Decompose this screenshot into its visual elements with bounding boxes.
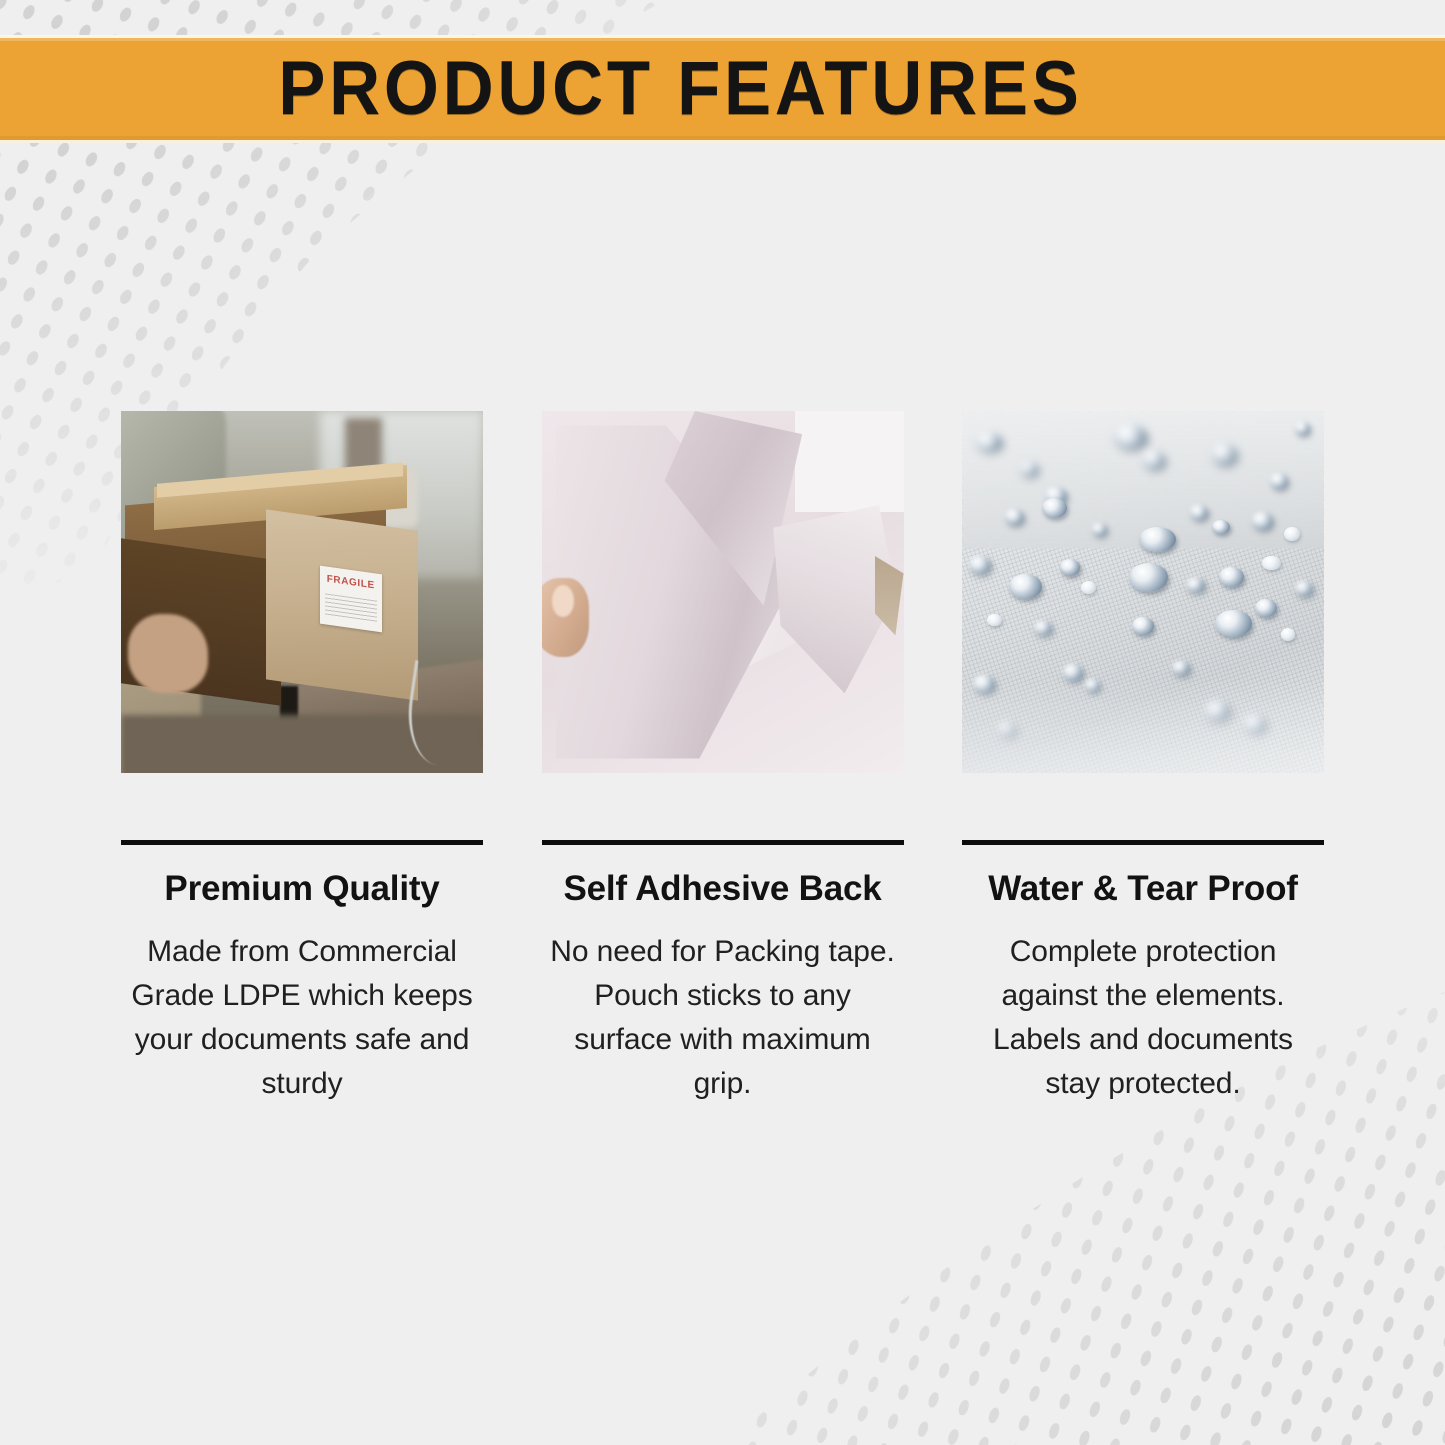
- fragile-label-text: FRAGILE: [324, 573, 378, 592]
- feature-body-text: Made from Commercial Grade LDPE which ke…: [121, 930, 483, 1106]
- feature-heading: Premium Quality: [121, 869, 483, 909]
- feature-body-text: Complete protection against the elements…: [962, 930, 1324, 1106]
- feature-column-water-tear-proof: Water & Tear Proof Complete protection a…: [962, 411, 1324, 1106]
- feature-image-premium-quality: FRAGILE: [121, 411, 483, 773]
- feature-heading: Water & Tear Proof: [962, 869, 1324, 909]
- header-band: PRODUCT FEATURES: [0, 38, 1445, 140]
- feature-image-self-adhesive-back: [542, 411, 904, 773]
- feature-divider-rule: [542, 840, 904, 845]
- fragile-label-pouch: FRAGILE: [320, 566, 382, 633]
- feature-body-text: No need for Packing tape. Pouch sticks t…: [542, 930, 904, 1106]
- product-features-infographic: PRODUCT FEATURES F: [0, 0, 1445, 1445]
- feature-divider-rule: [121, 840, 483, 845]
- feature-divider-rule: [962, 840, 1324, 845]
- feature-heading: Self Adhesive Back: [542, 869, 904, 909]
- feature-column-premium-quality: FRAGILE Premium Quality Made from Commer…: [121, 411, 483, 1106]
- feature-image-water-tear-proof: [962, 411, 1324, 773]
- page-title: PRODUCT FEATURES: [278, 51, 1082, 127]
- feature-columns: FRAGILE Premium Quality Made from Commer…: [121, 411, 1324, 1106]
- feature-column-self-adhesive-back: Self Adhesive Back No need for Packing t…: [542, 411, 904, 1106]
